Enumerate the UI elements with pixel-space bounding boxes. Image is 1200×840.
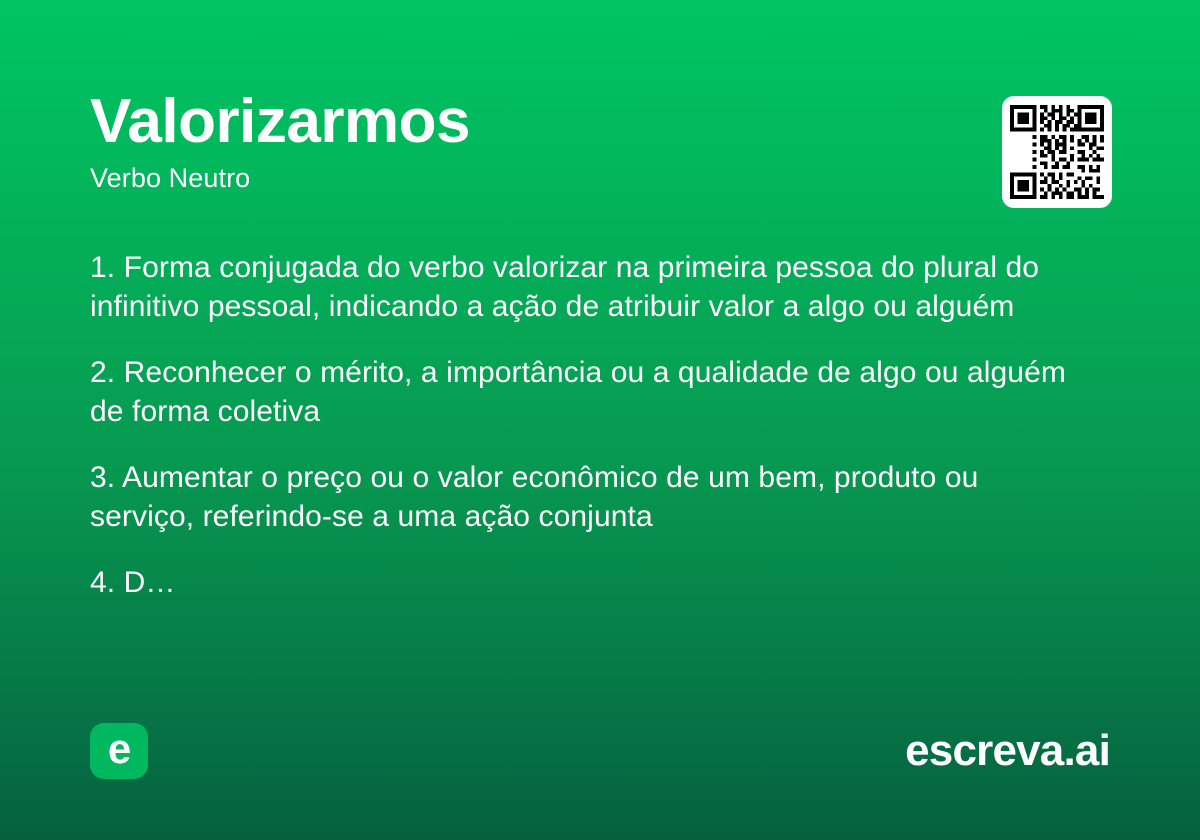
word-class-label: Verbo Neutro xyxy=(90,162,970,194)
definitions-list: 1. Forma conjugada do verbo valorizar na… xyxy=(90,248,1090,602)
brand-wordmark: escreva.ai xyxy=(905,727,1110,775)
qr-code-icon xyxy=(1010,104,1104,200)
card-header: Valorizarmos Verbo Neutro xyxy=(90,88,970,194)
card-footer: e escreva.ai xyxy=(90,722,1110,780)
escreva-logo-icon: e xyxy=(90,723,148,779)
definition-item: 1. Forma conjugada do verbo valorizar na… xyxy=(90,248,1090,326)
definition-item: 2. Reconhecer o mérito, a importância ou… xyxy=(90,353,1090,431)
qr-code[interactable] xyxy=(1002,96,1112,208)
page-title: Valorizarmos xyxy=(90,88,970,156)
definition-item: 4. D… xyxy=(90,563,1090,602)
logo-letter: e xyxy=(108,728,130,770)
definition-card: Valorizarmos Verbo Neutro xyxy=(0,0,1200,840)
definition-item: 3. Aumentar o preço ou o valor econômico… xyxy=(90,458,1090,536)
